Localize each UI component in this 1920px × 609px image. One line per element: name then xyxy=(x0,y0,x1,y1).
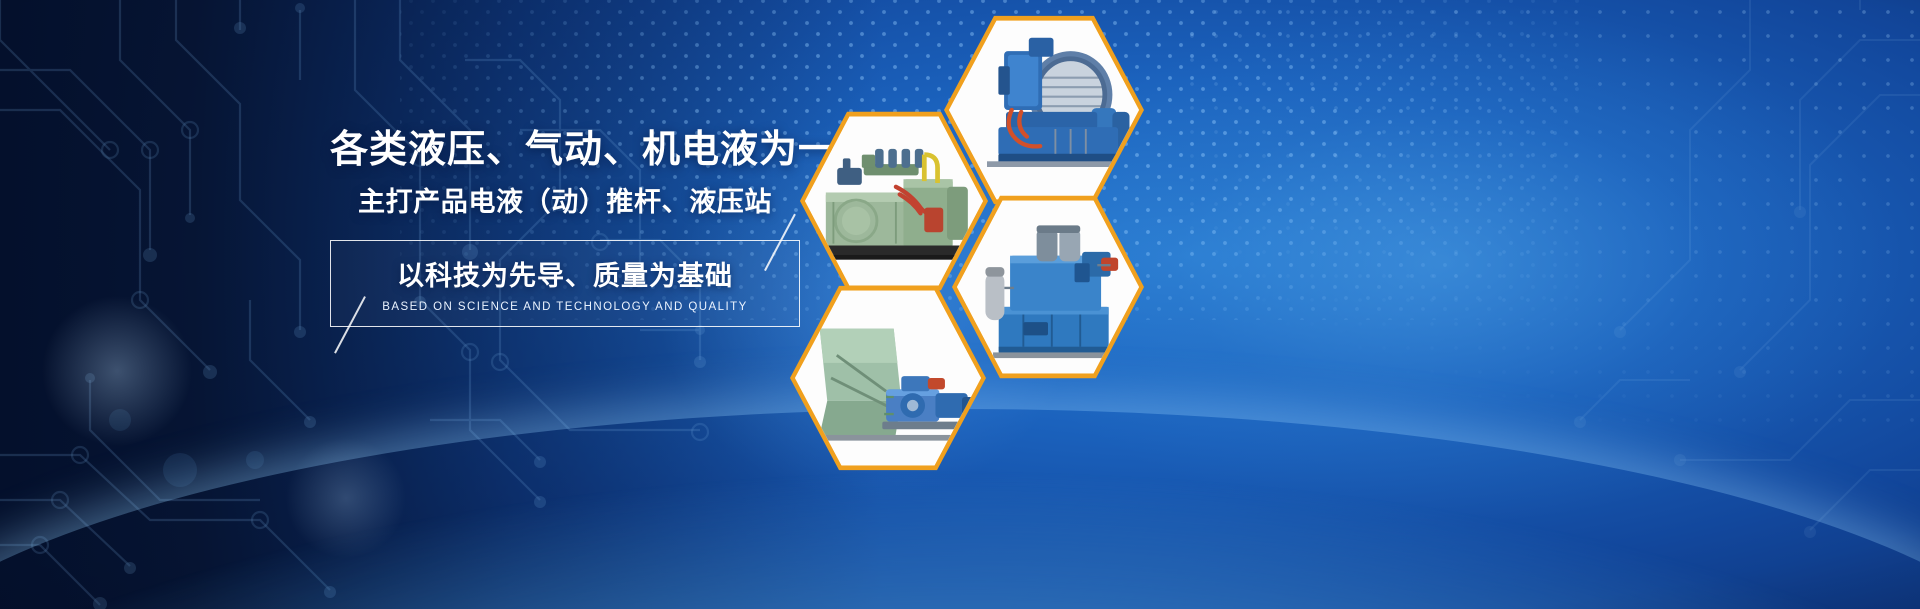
promo-banner: 各类液压、气动、机电液为一体 主打产品电液（动）推杆、液压站 以科技为先导、质量… xyxy=(0,0,1920,609)
vignette-overlay xyxy=(0,0,1920,609)
